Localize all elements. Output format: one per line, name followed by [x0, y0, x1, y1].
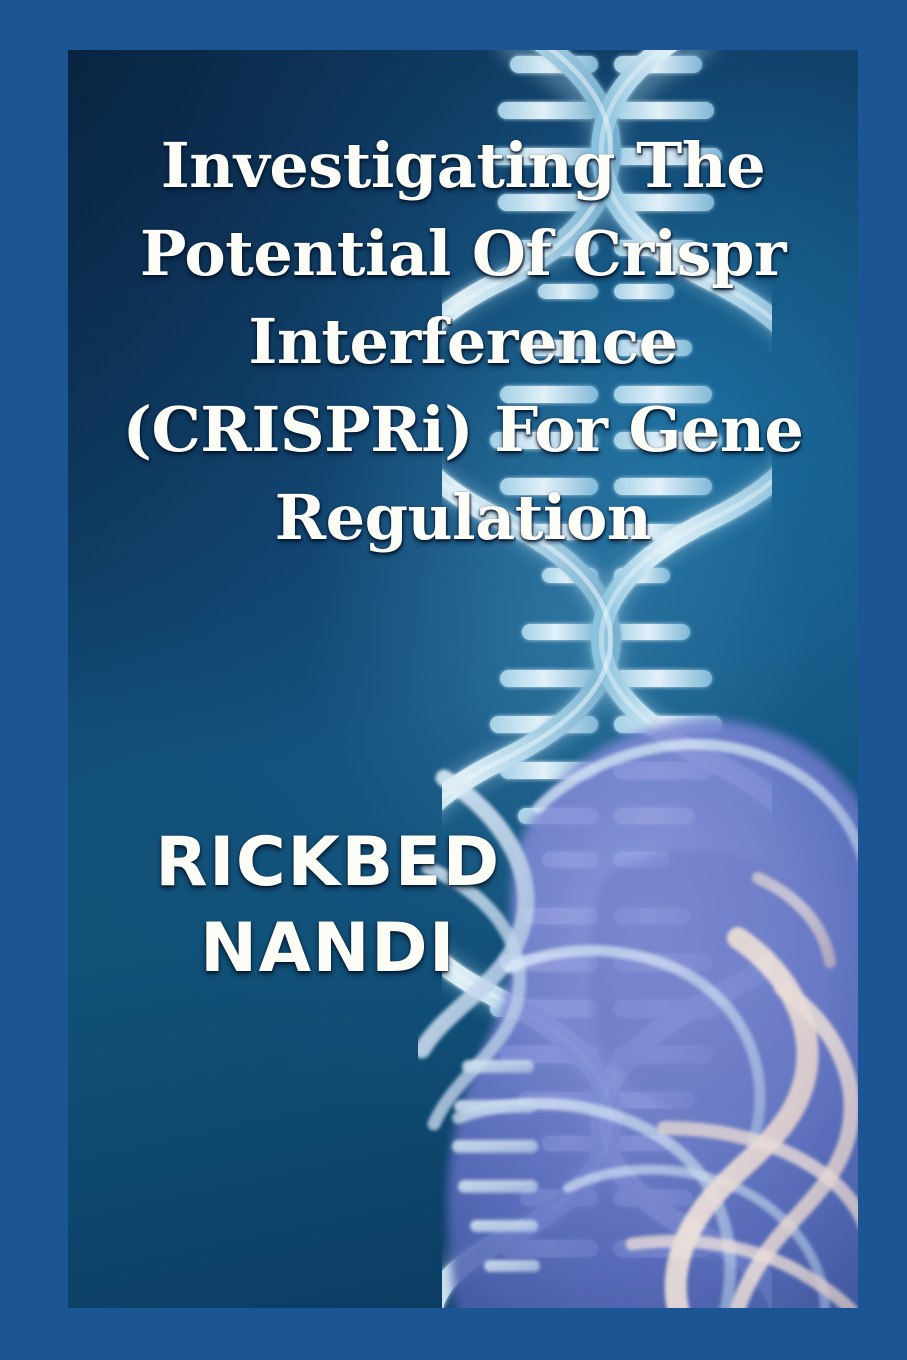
protein-molecule-icon: [418, 688, 858, 1308]
author-line-1: RICKBED: [108, 820, 548, 906]
title-line-5: Regulation: [68, 474, 858, 562]
title-line-3: Interference: [68, 298, 858, 386]
book-cover: Investigating The Potential Of Crispr In…: [0, 0, 907, 1360]
title-line-1: Investigating The: [68, 122, 858, 210]
title-line-2: Potential Of Crispr: [68, 210, 858, 298]
cover-title: Investigating The Potential Of Crispr In…: [68, 122, 858, 562]
author-line-2: NANDI: [108, 906, 548, 992]
cover-artwork: Investigating The Potential Of Crispr In…: [68, 50, 858, 1308]
cover-author: RICKBED NANDI: [108, 820, 548, 992]
title-line-4: (CRISPRi) For Gene: [68, 386, 858, 474]
